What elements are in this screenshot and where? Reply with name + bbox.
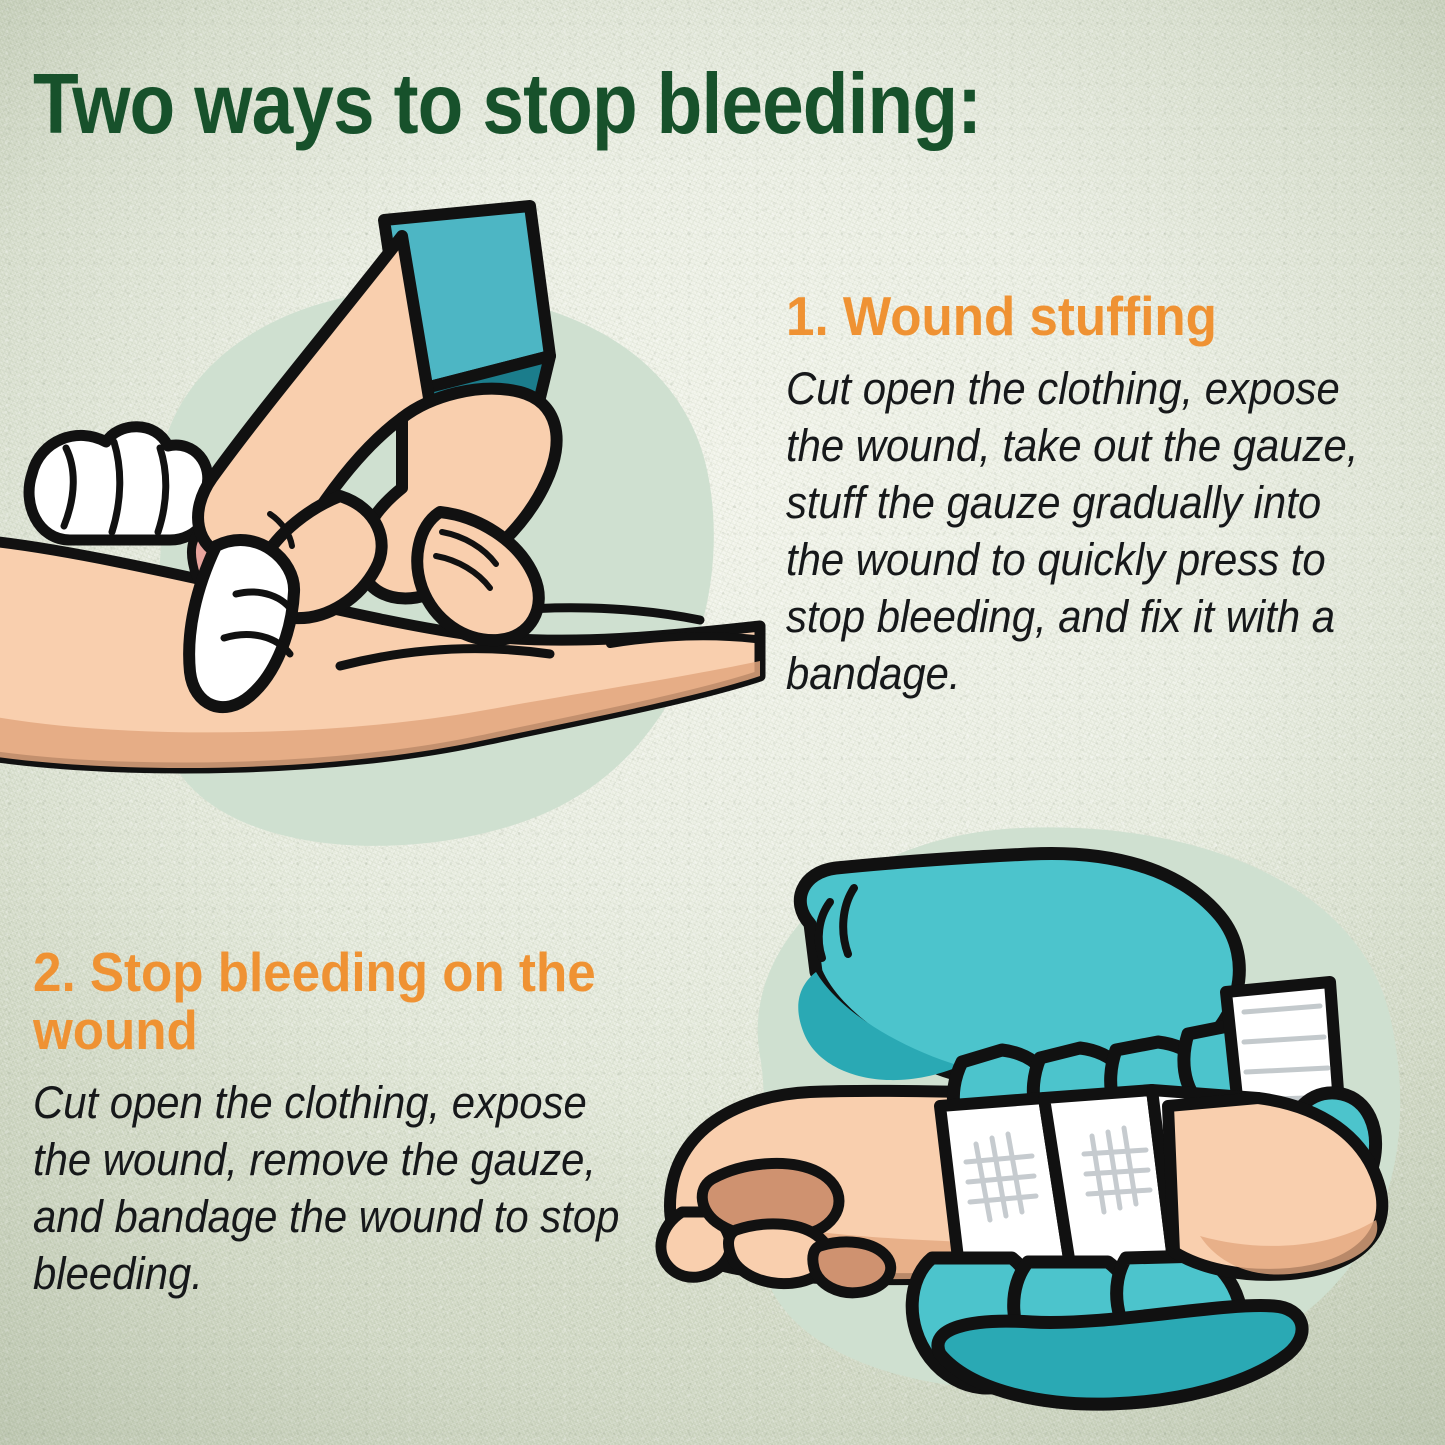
wound-stuffing-illustration (10, 196, 750, 876)
section-1-text-block: 1. Wound stuffing Cut open the clothing,… (786, 288, 1434, 703)
gauze-pad-left (29, 427, 209, 540)
section-1-heading: 1. Wound stuffing (786, 288, 1389, 346)
bandaging-illustration (640, 806, 1445, 1445)
section-2-body: Cut open the clothing, expose the wound,… (33, 1074, 628, 1303)
page-title: Two ways to stop bleeding: (33, 62, 981, 147)
section-1-body: Cut open the clothing, expose the wound,… (786, 360, 1389, 703)
section-2-heading: 2. Stop bleeding on the wound (33, 944, 628, 1060)
infographic-poster: Two ways to stop bleeding: (0, 0, 1445, 1445)
section-2-text-block: 2. Stop bleeding on the wound Cut open t… (33, 944, 673, 1302)
